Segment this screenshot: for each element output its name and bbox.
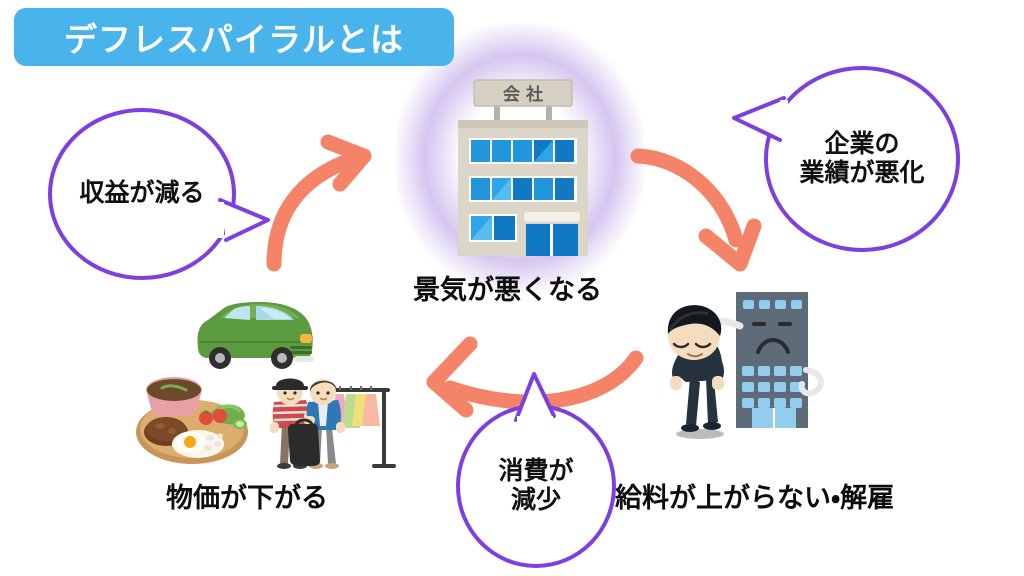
bubble-line: 企業の (824, 130, 899, 160)
arrow-prices-to-company (252, 132, 412, 272)
bubble-line: 収益が減る (79, 179, 204, 209)
page-title: デフレスパイラルとは (64, 13, 404, 61)
bubble-corporate-performance-worsens: 企業の 業績が悪化 (764, 66, 960, 252)
clothes-shopping-illustration (256, 368, 396, 472)
meal-plate-illustration (134, 368, 256, 468)
bubble-revenue-decreases: 収益が減る (48, 108, 236, 280)
slide-canvas: デフレスパイラルとは 収益が減る 企業の 業績が悪化 消費が 減少 (0, 0, 1024, 576)
caption-prices-fall: 物価が下がる (166, 476, 328, 515)
caption-wages-stagnate: 給料が上がらない・解雇 (615, 476, 894, 515)
bubble-line: 業績が悪化 (799, 159, 924, 189)
bubble-line: 減少 (511, 486, 561, 516)
page-title-badge: デフレスパイラルとは (14, 8, 454, 66)
bubble-consumption-declines: 消費が 減少 (456, 404, 616, 568)
laid-off-salaryman-illustration (650, 278, 830, 458)
building-sign-text: 会 社 (503, 84, 543, 105)
green-car-illustration (190, 296, 318, 376)
arrow-company-to-wages (618, 132, 778, 276)
bubble-line: 消費が (498, 457, 573, 487)
caption-economy-worsens: 景気が悪くなる (413, 268, 602, 307)
company-building-illustration: 会 社 (438, 72, 608, 262)
